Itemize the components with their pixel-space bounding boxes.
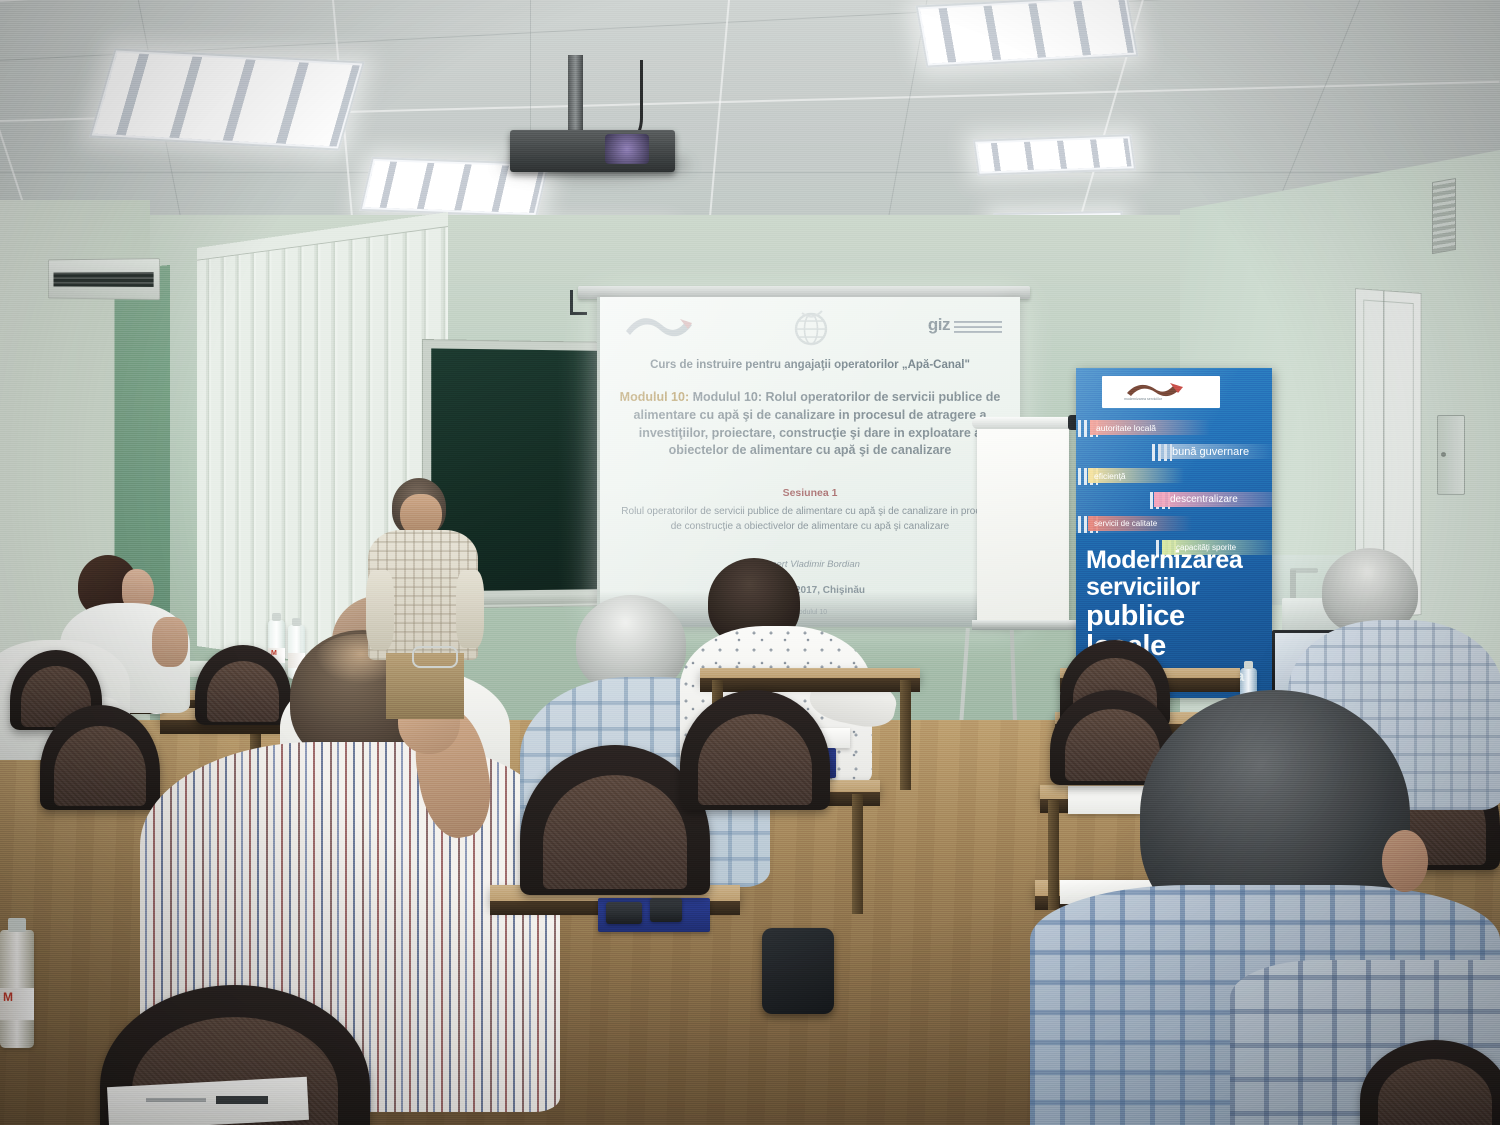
phone[interactable] <box>650 898 682 922</box>
classroom-photo: giz Curs de instruire pentru angajaţii o… <box>0 0 1500 1125</box>
air-conditioner-unit <box>48 258 160 300</box>
flipchart-tray <box>972 620 1076 630</box>
arm-right <box>456 570 484 648</box>
glasses-in-hand <box>412 646 458 668</box>
paper-print-block <box>216 1096 268 1104</box>
projector-lens <box>605 134 649 164</box>
ceiling-light-panel <box>89 48 365 150</box>
giz-logo: giz <box>928 315 1002 335</box>
chair[interactable] <box>680 690 830 810</box>
banner-tag: servicii de calitate <box>1088 516 1192 531</box>
slide-module-body: Modulul 10: Rolul operatorilor de servic… <box>634 390 1001 457</box>
flipchart-paper <box>977 425 1069 625</box>
desk-leg <box>1048 800 1059 910</box>
chair[interactable] <box>195 645 291 725</box>
slide-session-text: Rolul operatorilor de servicii publice d… <box>620 504 1000 534</box>
arm-left <box>366 570 394 650</box>
ceiling-projector <box>510 130 675 172</box>
banner-tag: autoritate locală <box>1090 420 1210 435</box>
water-bottle: M <box>0 930 34 1048</box>
projector-mount <box>568 55 583 137</box>
ceiling-light-panel <box>973 134 1136 176</box>
ac-vent-grille <box>54 272 154 287</box>
desk <box>700 668 920 682</box>
banner-tag: bună guvernare <box>1158 444 1272 459</box>
chair[interactable] <box>1360 1040 1500 1125</box>
slide-module-text: Modulul 10: Modulul 10: Rolul operatoril… <box>614 389 1006 460</box>
desk-leg <box>852 794 863 914</box>
slide-expert-name: Expert Vladimir Bordian <box>600 559 1020 570</box>
electrical-panel-box[interactable] <box>1437 415 1465 495</box>
chair[interactable] <box>40 705 160 810</box>
paper-print-line <box>146 1098 206 1102</box>
banner-ribbon-icon <box>1126 381 1188 398</box>
banner-logo-text: modernizarea serviciilor <box>1124 397 1162 401</box>
banner-tag: eficienţă <box>1088 468 1184 483</box>
slide-title: Curs de instruire pentru angajaţii opera… <box>606 359 1014 371</box>
ribbon-logo-icon <box>624 313 694 339</box>
globe-logo-icon <box>788 307 834 349</box>
ceiling-light-panel <box>916 0 1139 68</box>
slide-module-highlight: Modulul 10: <box>620 390 689 404</box>
flipchart-clamp-bar <box>972 417 1077 429</box>
wall-vent-grille <box>1432 178 1456 254</box>
panel-latch <box>1441 452 1446 457</box>
ear <box>1382 830 1428 892</box>
slide-session-label: Sesiunea 1 <box>614 487 1006 499</box>
desk-leg <box>900 680 911 790</box>
banner-logo: modernizarea serviciilor <box>1102 376 1220 408</box>
banner-tag: descentralizare <box>1154 492 1272 507</box>
faucet-body <box>1290 570 1296 600</box>
projection-screen: giz Curs de instruire pentru angajaţii o… <box>597 297 1020 627</box>
bag <box>762 928 834 1014</box>
arm <box>152 617 188 667</box>
phone[interactable] <box>606 902 642 924</box>
slide-logo-row: giz <box>600 307 1020 345</box>
